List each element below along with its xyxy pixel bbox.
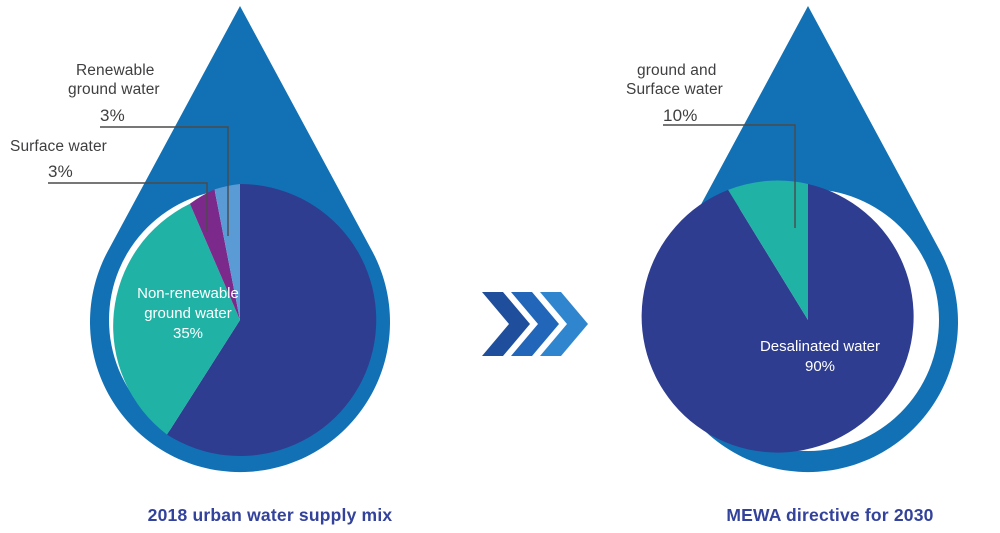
callout-percent-ground-and-surface-water: 10% — [663, 106, 698, 125]
callout-label-ground-and-surface-water-line1: ground and — [637, 61, 716, 80]
caption-left-chart: 2018 urban water supply mix — [70, 505, 470, 526]
slice-percent-desalinated-water: 90% — [690, 357, 950, 377]
callout-label-ground-and-surface-water-line2: Surface water — [626, 80, 723, 99]
callout-label-surface-water-line1: Surface water — [10, 137, 107, 156]
callout-label-renewable-ground-water-line2: ground water — [68, 80, 160, 99]
slice-label-desalinated-water-line1: Desalinated water — [690, 337, 950, 357]
slice-label-non-renewable-ground-water-line2: ground water — [98, 304, 278, 324]
caption-right-chart: MEWA directive for 2030 — [650, 505, 1000, 526]
right-pie-chart — [642, 181, 914, 453]
chevron-arrow-group — [482, 292, 588, 356]
slice-percent-non-renewable-ground-water: 35% — [98, 324, 278, 344]
callout-label-renewable-ground-water-line1: Renewable — [76, 61, 154, 80]
slice-label-non-renewable-ground-water-line1: Non-renewable — [98, 284, 278, 304]
callout-percent-renewable-ground-water: 3% — [100, 106, 125, 125]
slice-label-desalinated-water: Desalinated water 90% — [690, 337, 950, 377]
slice-label-non-renewable-ground-water: Non-renewable ground water 35% — [98, 284, 278, 344]
callout-percent-surface-water: 3% — [48, 162, 73, 181]
infographic-canvas: Renewable ground water 3% Surface water … — [0, 0, 1000, 533]
